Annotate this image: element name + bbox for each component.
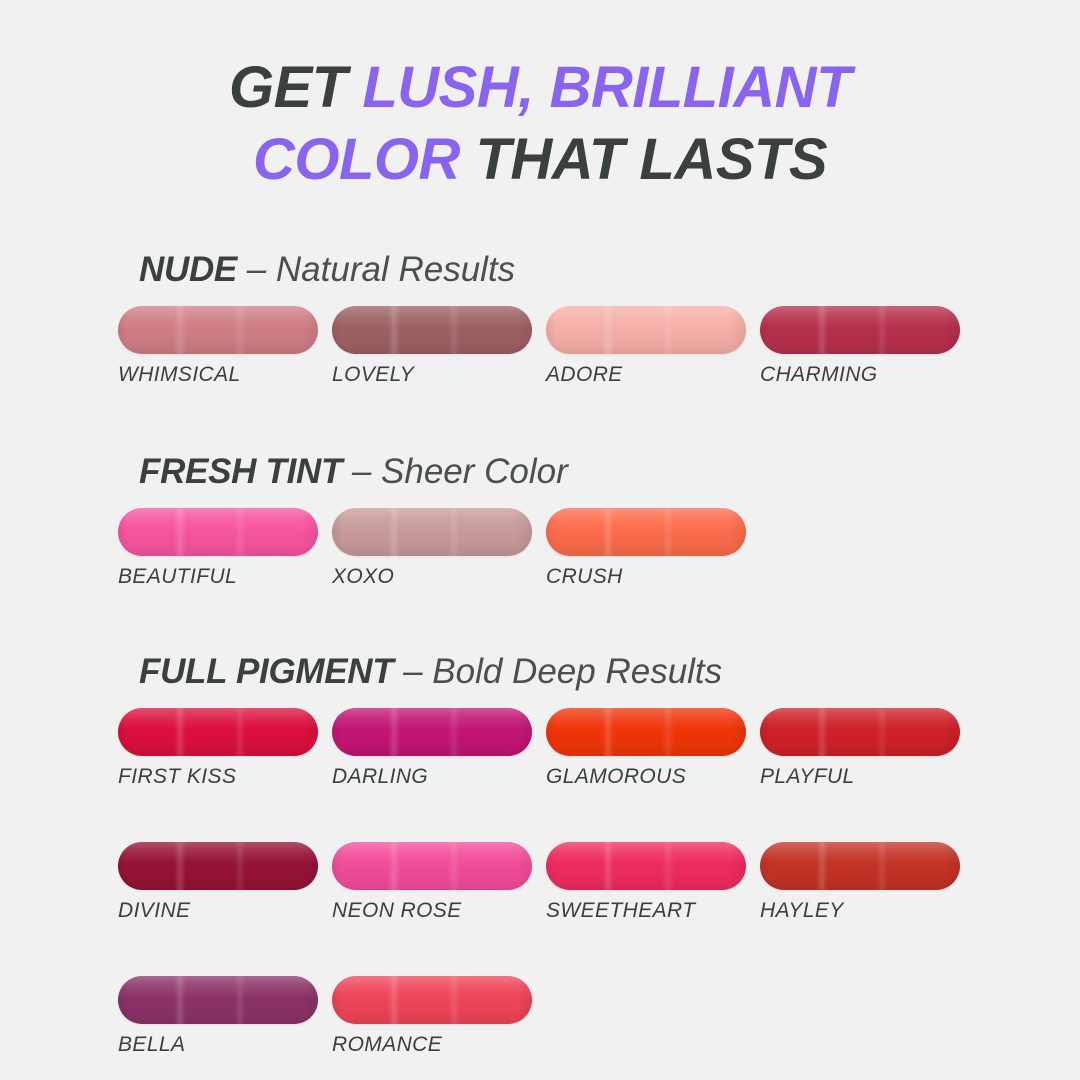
swatch-sweetheart[interactable]: [546, 842, 746, 890]
swatch-label: DARLING: [332, 764, 532, 790]
swatch-row: BEAUTIFUL XOXO CRUSH: [118, 508, 1080, 590]
swatch-label: LOVELY: [332, 362, 532, 388]
swatch-charming[interactable]: [760, 306, 960, 354]
headline-accent-lush-brilliant: LUSH, BRILLIANT: [362, 55, 851, 120]
section-name-nude: NUDE: [139, 250, 237, 289]
swatch-row: BELLA ROMANCE: [118, 976, 1080, 1058]
section-nude: NUDE – Natural Results WHIMSICAL LOVELY …: [0, 248, 1080, 388]
swatch-label: BEAUTIFUL: [118, 564, 318, 590]
swatch-romance[interactable]: [332, 976, 532, 1024]
swatch-cell-whimsical[interactable]: WHIMSICAL: [118, 306, 318, 388]
swatch-cell-first-kiss[interactable]: FIRST KISS: [118, 708, 318, 790]
swatch-cell-sweetheart[interactable]: SWEETHEART: [546, 842, 746, 924]
swatch-label: NEON ROSE: [332, 898, 532, 924]
swatch-label: PLAYFUL: [760, 764, 960, 790]
swatch-label: GLAMOROUS: [546, 764, 746, 790]
swatch-rows-nude: WHIMSICAL LOVELY ADORE CHARMING: [0, 306, 1080, 388]
section-tagline-nude: – Natural Results: [247, 250, 515, 289]
swatch-label: FIRST KISS: [118, 764, 318, 790]
swatch-darling[interactable]: [332, 708, 532, 756]
swatch-label: BELLA: [118, 1032, 318, 1058]
swatch-row: DIVINE NEON ROSE SWEETHEART HAYLEY: [118, 842, 1080, 924]
swatch-glamorous[interactable]: [546, 708, 746, 756]
swatch-cell-charming[interactable]: CHARMING: [760, 306, 960, 388]
lipstick-shade-chart: GET LUSH, BRILLIANT COLOR THAT LASTS NUD…: [0, 0, 1080, 1080]
swatch-xoxo[interactable]: [332, 508, 532, 556]
swatch-adore[interactable]: [546, 306, 746, 354]
headline-text-get: GET: [229, 55, 362, 120]
swatch-label: XOXO: [332, 564, 532, 590]
headline-line-2: COLOR THAT LASTS: [0, 124, 1080, 196]
swatch-row: WHIMSICAL LOVELY ADORE CHARMING: [118, 306, 1080, 388]
swatch-rows-fresh-tint: BEAUTIFUL XOXO CRUSH: [0, 508, 1080, 590]
section-heading-fresh-tint: FRESH TINT – Sheer Color: [139, 450, 1080, 494]
swatch-beautiful[interactable]: [118, 508, 318, 556]
swatch-label: SWEETHEART: [546, 898, 746, 924]
section-name-fresh-tint: FRESH TINT: [139, 452, 342, 491]
swatch-cell-lovely[interactable]: LOVELY: [332, 306, 532, 388]
swatch-neon-rose[interactable]: [332, 842, 532, 890]
swatch-cell-crush[interactable]: CRUSH: [546, 508, 746, 590]
swatch-bella[interactable]: [118, 976, 318, 1024]
page-headline: GET LUSH, BRILLIANT COLOR THAT LASTS: [0, 52, 1080, 196]
swatch-hayley[interactable]: [760, 842, 960, 890]
swatch-cell-divine[interactable]: DIVINE: [118, 842, 318, 924]
section-heading-full-pigment: FULL PIGMENT – Bold Deep Results: [139, 650, 1080, 694]
section-tagline-fresh-tint: – Sheer Color: [352, 452, 568, 491]
swatch-rows-full-pigment: FIRST KISS DARLING GLAMOROUS PLAYFUL: [0, 708, 1080, 1058]
swatch-cell-xoxo[interactable]: XOXO: [332, 508, 532, 590]
swatch-crush[interactable]: [546, 508, 746, 556]
swatch-label: CRUSH: [546, 564, 746, 590]
swatch-first-kiss[interactable]: [118, 708, 318, 756]
swatch-label: ROMANCE: [332, 1032, 532, 1058]
swatch-cell-adore[interactable]: ADORE: [546, 306, 746, 388]
swatch-cell-neon-rose[interactable]: NEON ROSE: [332, 842, 532, 924]
swatch-label: ADORE: [546, 362, 746, 388]
headline-accent-color: COLOR: [253, 127, 460, 192]
swatch-cell-beautiful[interactable]: BEAUTIFUL: [118, 508, 318, 590]
swatch-cell-romance[interactable]: ROMANCE: [332, 976, 532, 1058]
swatch-cell-hayley[interactable]: HAYLEY: [760, 842, 960, 924]
swatch-lovely[interactable]: [332, 306, 532, 354]
swatch-cell-bella[interactable]: BELLA: [118, 976, 318, 1058]
swatch-label: WHIMSICAL: [118, 362, 318, 388]
swatch-cell-glamorous[interactable]: GLAMOROUS: [546, 708, 746, 790]
swatch-divine[interactable]: [118, 842, 318, 890]
section-full-pigment: FULL PIGMENT – Bold Deep Results FIRST K…: [0, 650, 1080, 1058]
swatch-cell-playful[interactable]: PLAYFUL: [760, 708, 960, 790]
headline-text-that-lasts: THAT LASTS: [460, 127, 827, 192]
section-name-full-pigment: FULL PIGMENT: [139, 652, 393, 691]
headline-line-1: GET LUSH, BRILLIANT: [0, 52, 1080, 124]
swatch-whimsical[interactable]: [118, 306, 318, 354]
section-heading-nude: NUDE – Natural Results: [139, 248, 1080, 292]
swatch-label: CHARMING: [760, 362, 960, 388]
swatch-cell-darling[interactable]: DARLING: [332, 708, 532, 790]
swatch-playful[interactable]: [760, 708, 960, 756]
swatch-label: HAYLEY: [760, 898, 960, 924]
swatch-label: DIVINE: [118, 898, 318, 924]
swatch-row: FIRST KISS DARLING GLAMOROUS PLAYFUL: [118, 708, 1080, 790]
section-fresh-tint: FRESH TINT – Sheer Color BEAUTIFUL XOXO …: [0, 450, 1080, 590]
section-tagline-full-pigment: – Bold Deep Results: [403, 652, 722, 691]
